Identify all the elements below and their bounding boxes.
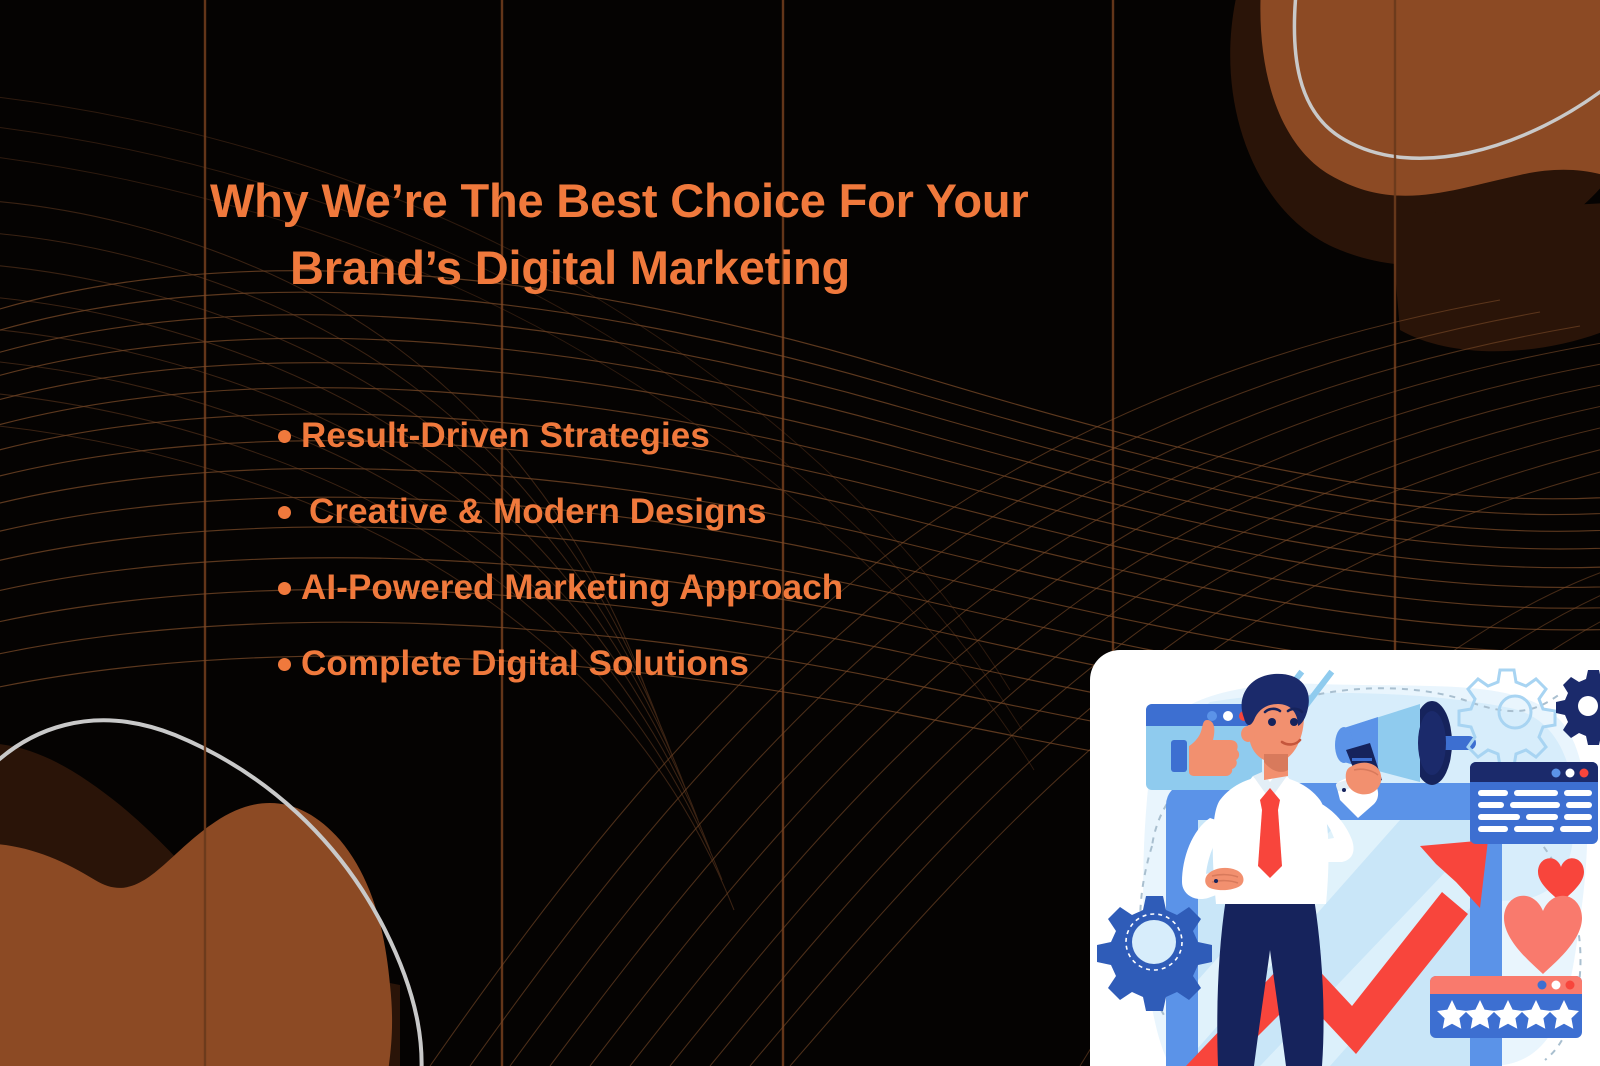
blob-shadow-bottom-left-2 [300, 880, 383, 1060]
window-dot-white [1223, 711, 1233, 721]
list-item: AI-Powered Marketing Approach [278, 550, 843, 626]
list-item-label: AI-Powered Marketing Approach [301, 568, 843, 608]
list-item-label: Creative & Modern Designs [301, 492, 767, 532]
stroke-curve-top-right [1294, 0, 1600, 158]
blob-shadow-top-right [1230, 0, 1600, 266]
list-item: Creative & Modern Designs [278, 474, 843, 550]
five-star-rating-window [1430, 976, 1582, 1038]
digital-marketing-illustration [1090, 650, 1600, 1066]
page-title-line-2: Brand’s Digital Marketing [210, 235, 930, 302]
window-dot-blue [1552, 769, 1561, 778]
eye [1268, 718, 1276, 726]
blob-bottom-left [0, 803, 392, 1066]
benefits-list: Result-Driven Strategies Creative & Mode… [278, 398, 843, 702]
text-list-window [1470, 762, 1598, 844]
blob-shadow-bottom-left [0, 743, 400, 1066]
window-dot-blue [1207, 711, 1217, 721]
page-title-line-1: Why We’re The Best Choice For Your [210, 168, 930, 235]
list-item: Complete Digital Solutions [278, 626, 843, 702]
window-dot-red [1580, 769, 1589, 778]
window-dot-white [1566, 769, 1575, 778]
bullet-dot-icon [278, 582, 291, 595]
blob-top-right [1260, 0, 1600, 200]
page-title: Why We’re The Best Choice For Your Brand… [210, 168, 930, 301]
bullet-dot-icon [278, 506, 291, 519]
window-dot-red [1566, 981, 1575, 990]
bullet-dot-icon [278, 430, 291, 443]
bullet-dot-icon [278, 658, 291, 671]
stroke-curve-bottom-left [0, 720, 422, 1066]
list-item-label: Result-Driven Strategies [301, 416, 710, 456]
eye [1290, 718, 1298, 726]
window-dot-white [1552, 981, 1561, 990]
window-dot-blue [1538, 981, 1547, 990]
gear-icon-large [1097, 896, 1212, 1011]
blob-shadow-top-right-2 [1390, 200, 1600, 351]
list-item-label: Complete Digital Solutions [301, 644, 749, 684]
list-item: Result-Driven Strategies [278, 398, 843, 474]
slide-root: Why We’re The Best Choice For Your Brand… [0, 0, 1600, 1066]
